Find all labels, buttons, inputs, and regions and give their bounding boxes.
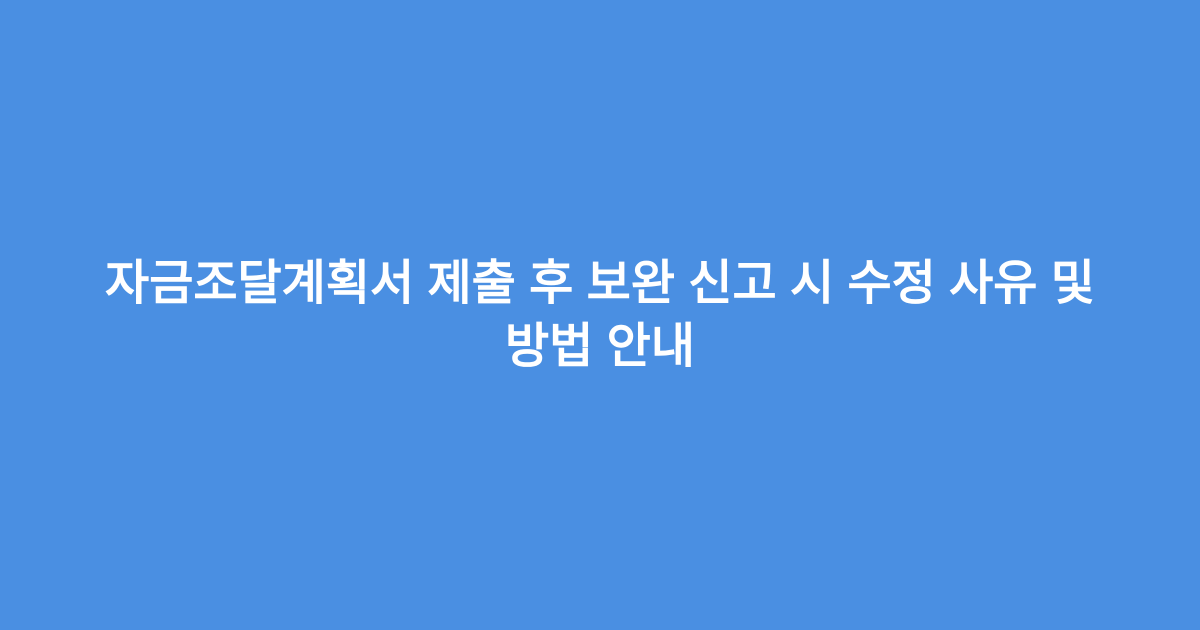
og-card: 자금조달계획서 제출 후 보완 신고 시 수정 사유 및 방법 안내: [0, 0, 1200, 630]
og-card-content: 자금조달계획서 제출 후 보완 신고 시 수정 사유 및 방법 안내: [0, 252, 1200, 378]
page-title: 자금조달계획서 제출 후 보완 신고 시 수정 사유 및 방법 안내: [64, 252, 1136, 378]
